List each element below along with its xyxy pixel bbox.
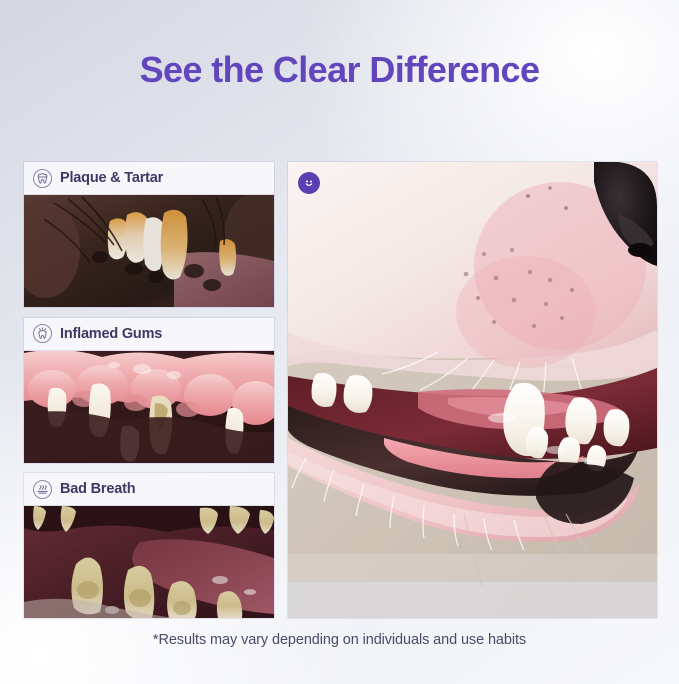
gum-inflammation-icon <box>33 324 52 343</box>
hero-card-healthy-mouth[interactable] <box>288 162 657 618</box>
steam-odor-icon <box>33 480 52 499</box>
infographic-stage: See the Clear Difference Plaque & Tartar <box>0 0 679 684</box>
issue-card-label: Inflamed Gums <box>24 318 274 351</box>
issue-photo-inflamed-gums <box>24 351 274 463</box>
tooth-icon <box>33 169 52 188</box>
issue-card-label: Bad Breath <box>24 473 274 506</box>
hero-photo <box>288 162 657 618</box>
issue-card-label: Plaque & Tartar <box>24 162 274 195</box>
issue-photo-bad-breath <box>24 506 274 618</box>
issue-card-label-text: Bad Breath <box>60 481 135 497</box>
issue-card-label-text: Inflamed Gums <box>60 326 162 342</box>
issue-card-bad-breath[interactable]: Bad Breath <box>24 473 274 618</box>
page-title: See the Clear Difference <box>0 48 679 92</box>
issue-photo-plaque-tartar <box>24 195 274 307</box>
issue-card-label-text: Plaque & Tartar <box>60 170 163 186</box>
disclaimer-text: *Results may vary depending on individua… <box>0 632 679 648</box>
smiley-face-icon <box>298 172 320 194</box>
issue-card-list: Plaque & Tartar <box>24 162 274 618</box>
issue-card-inflamed-gums[interactable]: Inflamed Gums <box>24 318 274 463</box>
issue-card-plaque-tartar[interactable]: Plaque & Tartar <box>24 162 274 307</box>
